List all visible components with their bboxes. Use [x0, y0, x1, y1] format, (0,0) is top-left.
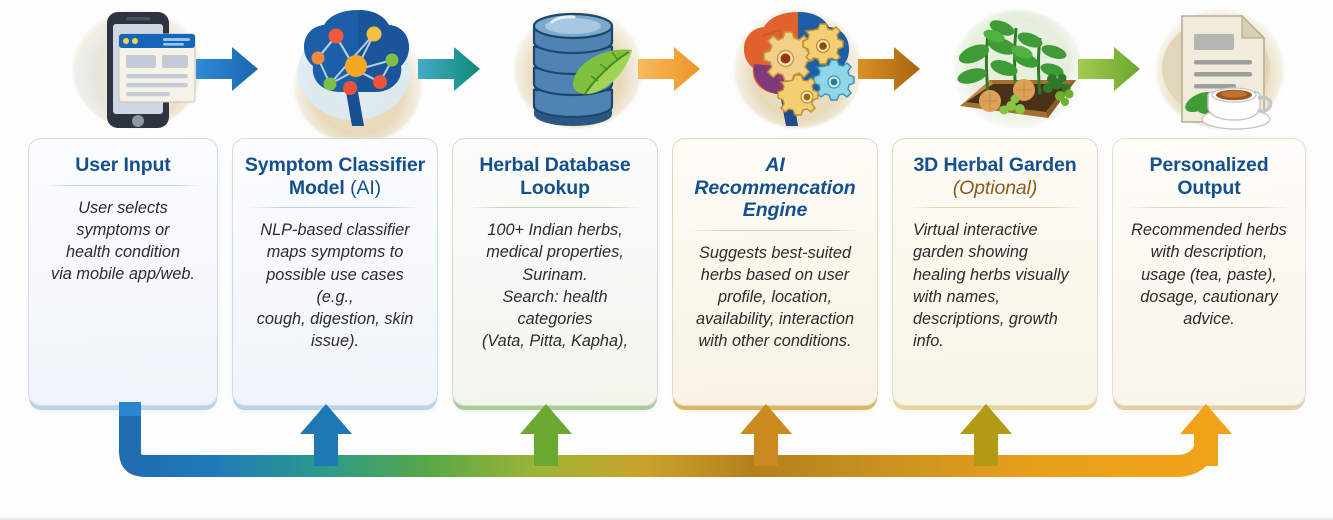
- card-title: User Input: [38, 148, 208, 177]
- feedback-loop: [0, 400, 1333, 510]
- neural-network-brain-icon: [288, 2, 428, 136]
- stage-card-personalized-output[interactable]: Personalized Output Recommended herbs wi…: [1112, 138, 1306, 406]
- database-leaf-icon: [508, 2, 648, 136]
- flow-arrow-5: [1078, 47, 1140, 91]
- illustration-row: [0, 0, 1333, 140]
- herb-garden-bed-icon: [948, 2, 1088, 136]
- feedback-stub-user-input: [119, 402, 141, 416]
- card-body: User selects symptoms or health conditio…: [38, 186, 208, 397]
- stage-card-ai-recommendation-engine[interactable]: AI Recommencation Engine Suggests best-s…: [672, 138, 878, 406]
- smartphone-form-icon: [67, 2, 207, 136]
- card-body: Recommended herbs with description, usag…: [1122, 208, 1296, 397]
- card-body: Virtual interactive garden showing heali…: [902, 208, 1088, 397]
- card-title: AI Recommencation Engine: [682, 148, 868, 222]
- stage-card-symptom-classifier[interactable]: Symptom Classifier Model (AI) NLP-based …: [232, 138, 438, 406]
- card-title: Symptom Classifier Model (AI): [242, 148, 428, 199]
- card-body: 100+ Indian herbs, medical properties, S…: [462, 208, 648, 397]
- card-body: NLP-based classifier maps symptoms to po…: [242, 208, 428, 397]
- flow-arrow-1: [196, 47, 258, 91]
- flow-arrow-2: [418, 47, 480, 91]
- diagram-canvas: User Input User selects symptoms or heal…: [0, 0, 1333, 520]
- flow-arrow-4: [858, 47, 920, 91]
- card-title: 3D Herbal Garden (Optional): [902, 148, 1088, 199]
- stage-card-3d-herbal-garden[interactable]: 3D Herbal Garden (Optional) Virtual inte…: [892, 138, 1098, 406]
- document-tea-cup-icon: [1150, 2, 1290, 136]
- stage-card-herbal-database-lookup[interactable]: Herbal Database Lookup 100+ Indian herbs…: [452, 138, 658, 406]
- flow-arrow-3: [638, 47, 700, 91]
- gears-brain-icon: [728, 2, 868, 136]
- card-body: Suggests best-suited herbs based on user…: [682, 231, 868, 397]
- card-title: Personalized Output: [1122, 148, 1296, 199]
- card-title: Herbal Database Lookup: [462, 148, 648, 199]
- stage-card-user-input[interactable]: User Input User selects symptoms or heal…: [28, 138, 218, 406]
